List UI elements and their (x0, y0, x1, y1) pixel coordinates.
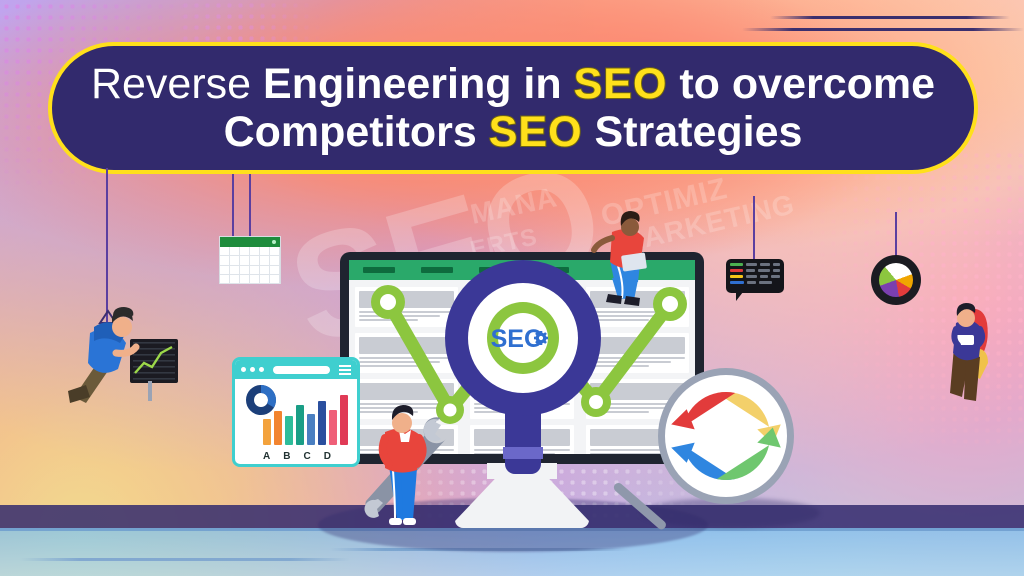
magnifier-handle-band (503, 447, 543, 459)
seo-banner-image: SEO MANA ERTS OPTIMIZ MARKETING CO Rever… (0, 0, 1024, 576)
worker-with-wrench-person (355, 408, 465, 533)
title-seo-2: SEO (489, 108, 583, 156)
bar (296, 405, 304, 445)
calendar-header (220, 237, 280, 247)
bar (329, 410, 337, 445)
seo-magnifier: SEO (443, 258, 603, 418)
bar-chart: A B C D (235, 379, 357, 467)
hang-string-left (232, 174, 234, 238)
title-word-overcome: to overcome (667, 60, 935, 108)
analyst-with-chart-person (60, 305, 186, 417)
cycle-magnifier (658, 368, 794, 504)
calendar-widget[interactable] (219, 236, 281, 284)
color-wheel-widget[interactable] (871, 255, 921, 305)
bar (307, 414, 315, 445)
browser-dot-icon (259, 367, 264, 372)
bar (274, 411, 282, 445)
title-line-1: Reverse Engineering in SEO to overcome (91, 60, 935, 108)
color-wheel-slices (879, 263, 913, 297)
hamburger-menu-icon[interactable] (339, 365, 351, 375)
title-line-2: Competitors SEO Strategies (224, 108, 803, 156)
analytics-browser-window[interactable]: A B C D (232, 357, 360, 467)
bar (318, 401, 326, 445)
bar (285, 416, 293, 445)
hang-string-wheel (895, 212, 897, 256)
browser-dot-icon (250, 367, 255, 372)
bar-chart-labels: A B C D (263, 451, 331, 462)
bar-label: D (324, 451, 331, 462)
hang-string-chat (753, 196, 755, 260)
calendar-grid (220, 247, 280, 284)
decor-line-0 (770, 16, 1010, 19)
bar (340, 395, 348, 445)
title-word-competitors: Competitors (224, 108, 489, 156)
bar-label: A (263, 451, 270, 462)
person-sitting-on-monitor (588, 216, 668, 308)
decor-line-1 (742, 28, 1024, 31)
person-with-backpack (936, 305, 1012, 405)
hang-string-right (249, 174, 251, 238)
browser-dot-icon (241, 367, 246, 372)
bar-label: C (303, 451, 310, 462)
browser-title-bar (235, 360, 357, 379)
title-word-strategies: Strategies (583, 108, 803, 156)
title-word-reverse: Reverse (91, 60, 263, 108)
cycle-arrows-diagram (666, 376, 786, 496)
bar-label: B (283, 451, 290, 462)
chat-bubble-widget[interactable] (726, 259, 784, 293)
title-banner: Reverse Engineering in SEO to overcome C… (48, 42, 978, 174)
gear-icon (534, 331, 548, 345)
hang-string-analyst (106, 168, 108, 324)
bar (263, 419, 271, 445)
calendar-status-dot-icon (272, 240, 276, 244)
title-seo-1: SEO (574, 60, 668, 108)
bar-chart-bars (263, 391, 348, 445)
title-word-engineering: Engineering in (263, 60, 574, 108)
browser-address-bar[interactable] (273, 366, 330, 374)
